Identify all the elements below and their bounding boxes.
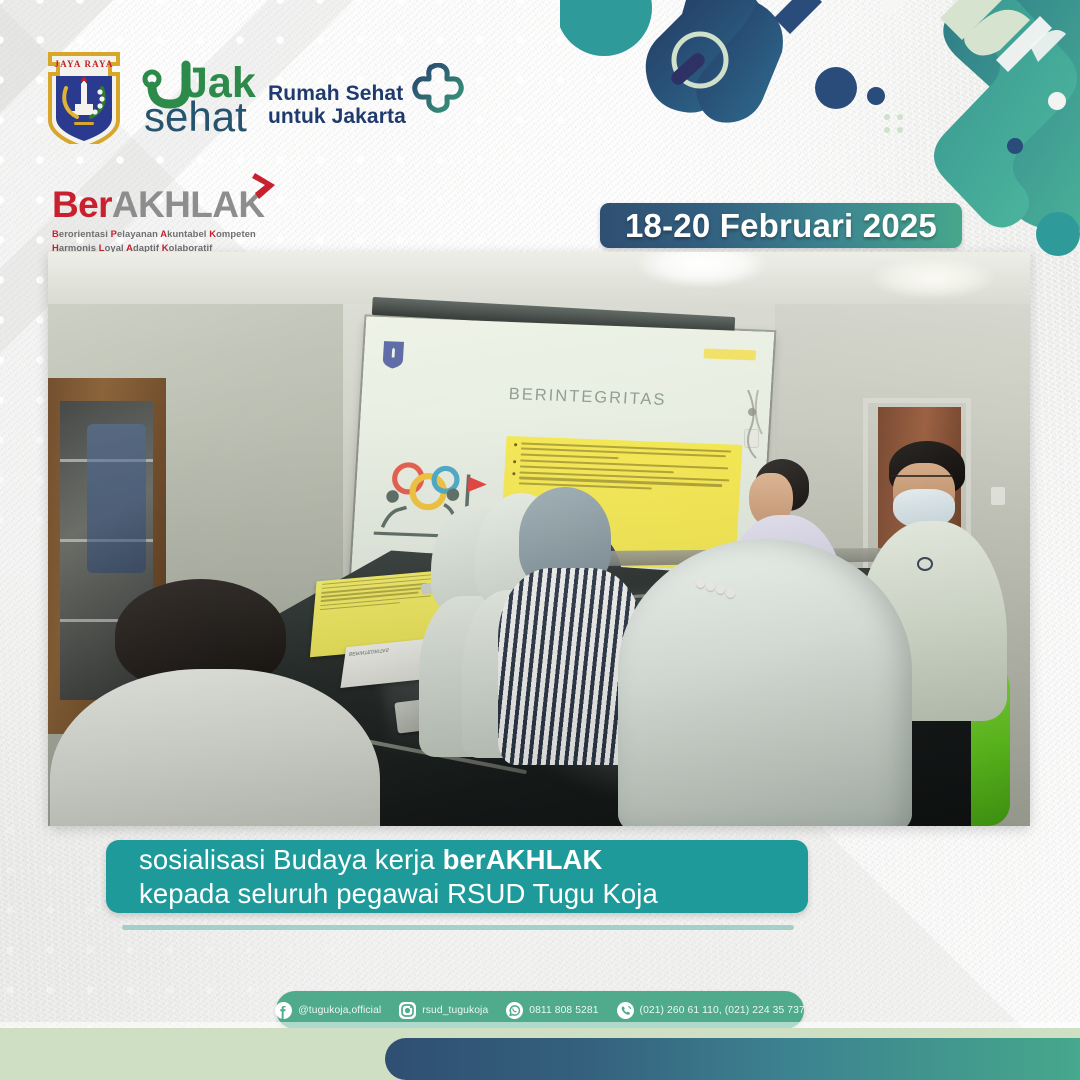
slide-title: BERINTEGRITAS	[509, 385, 668, 410]
sehat-text: sehat	[144, 93, 247, 135]
caption-line-1: sosialisasi Budaya kerja berAKHLAK	[139, 843, 808, 877]
contact-whatsapp[interactable]: 0811 808 5281	[497, 1002, 607, 1019]
contact-phone-label: (021) 260 61 110, (021) 224 35 737	[640, 1005, 805, 1016]
slide-accent-tab	[704, 348, 757, 360]
berakhlak-wordmark: BerAKHLAK	[52, 186, 265, 223]
foreground-attendee-left	[68, 579, 363, 826]
caption-line-1-plain: sosialisasi Budaya kerja	[139, 844, 443, 875]
instagram-icon	[399, 1002, 416, 1019]
ceiling-light-glare-2	[873, 258, 993, 298]
caption-line-2: kepada seluruh pegawai RSUD Tugu Koja	[139, 877, 808, 911]
tagline-line-2: untuk Jakarta	[268, 105, 406, 129]
jak-sehat-logo: Jak sehat Rumah Sehat untuk Jakarta	[140, 57, 464, 135]
date-badge: 18-20 Februari 2025	[600, 203, 962, 248]
blue-chair-far	[87, 424, 146, 573]
rumah-sehat-tagline-group: Rumah Sehat untuk Jakarta	[268, 63, 464, 129]
eyeglasses-icon	[891, 475, 953, 487]
contact-whatsapp-label: 0811 808 5281	[529, 1005, 598, 1016]
berakhlak-logo: BerAKHLAK Berorientasi Pelayanan Akuntab…	[52, 186, 302, 254]
foreground-attendee-hijab	[618, 539, 913, 826]
tagline-line-1: Rumah Sehat	[268, 82, 406, 106]
berakhlak-tagline-line-1: Berorientasi Pelayanan Akuntabel Kompete…	[52, 227, 302, 241]
contact-facebook[interactable]: @tugukoja,official	[266, 1002, 390, 1019]
caption-line-1-bold: berAKHLAK	[443, 844, 603, 875]
rumah-sehat-tagline: Rumah Sehat untuk Jakarta	[268, 82, 406, 129]
caption-underline	[122, 925, 794, 930]
contact-instagram-label: rsud_tugukoja	[422, 1005, 488, 1016]
poster-canvas: JAYA RAYA Jak	[0, 0, 1080, 1080]
header-logo-group: JAYA RAYA Jak	[42, 48, 464, 144]
caption-banner: sosialisasi Budaya kerja berAKHLAK kepad…	[106, 840, 808, 913]
bottom-gradient-bar	[385, 1038, 1080, 1080]
contact-instagram[interactable]: rsud_tugukoja	[390, 1002, 497, 1019]
contact-facebook-label: @tugukoja,official	[298, 1005, 381, 1016]
phone-icon	[617, 1002, 634, 1019]
facebook-icon	[275, 1002, 292, 1019]
chevron-right-arrow-icon	[251, 170, 279, 200]
berakhlak-ber: Ber	[52, 184, 112, 225]
attendee-body	[50, 669, 380, 826]
whatsapp-icon	[506, 1002, 523, 1019]
dki-jakarta-emblem: JAYA RAYA	[42, 48, 126, 144]
contact-phone[interactable]: (021) 260 61 110, (021) 224 35 737	[608, 1002, 814, 1019]
hijab-beads	[696, 579, 738, 591]
ceiling-light-glare	[637, 252, 767, 287]
jak-sehat-wordmark: Jak sehat	[140, 57, 258, 135]
health-cross-icon	[412, 63, 464, 115]
attendee-striped-shirt	[510, 487, 628, 740]
berakhlak-akhlak: AKHLAK	[112, 184, 265, 225]
event-photo-frame: BERINTEGRITAS	[48, 252, 1030, 826]
emblem-motto-left: JAYA RAYA	[54, 59, 113, 69]
berakhlak-tagline: Berorientasi Pelayanan Akuntabel Kompete…	[52, 227, 302, 254]
slide-emblem-icon	[380, 339, 408, 370]
event-photo: BERINTEGRITAS	[48, 252, 1030, 826]
date-badge-text: 18-20 Februari 2025	[625, 207, 937, 245]
